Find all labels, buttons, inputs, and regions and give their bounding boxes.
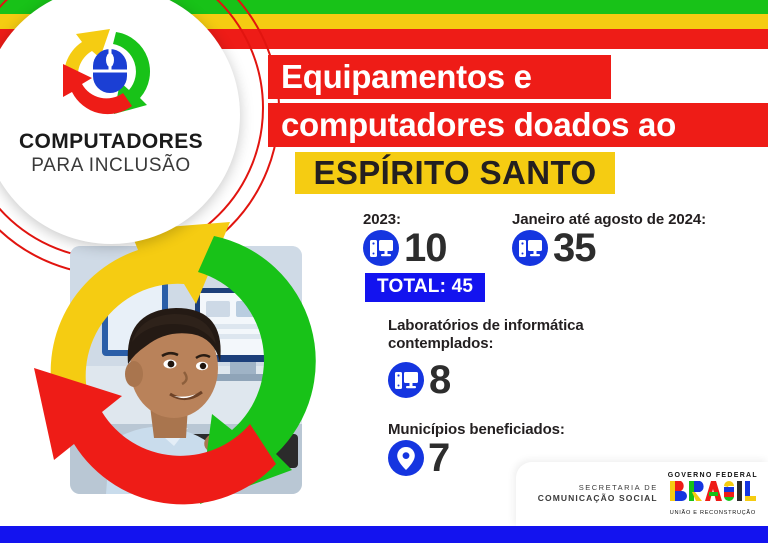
headline-line-1: Equipamentos e bbox=[268, 55, 611, 99]
stat-labs-value: 8 bbox=[429, 360, 450, 400]
stat-labs-label-line-1: Laboratórios de informática bbox=[388, 317, 584, 334]
photo-with-arrow-ring bbox=[18, 208, 348, 528]
headline-line-2-text: computadores doados ao bbox=[281, 106, 676, 144]
desktop-computer-icon bbox=[512, 230, 548, 266]
stat-2024-value: 35 bbox=[553, 228, 596, 268]
logo-title-line-2: PARA INCLUSÃO bbox=[31, 155, 191, 177]
stat-labs-label: Laboratórios de informática contemplados… bbox=[388, 317, 584, 354]
desktop-computer-icon bbox=[388, 362, 424, 398]
mouse-recycle-icon bbox=[36, 10, 186, 128]
headline-line-2: computadores doados ao bbox=[268, 103, 768, 147]
brasil-wordmark-icon bbox=[669, 479, 757, 503]
secom-logo: SECRETARIA DE COMUNICAÇÃO SOCIAL bbox=[538, 483, 658, 505]
secom-line-1: SECRETARIA DE bbox=[538, 483, 658, 493]
headline-highlight-text: ESPÍRITO SANTO bbox=[313, 154, 596, 192]
bottom-stripe-blue bbox=[0, 526, 768, 543]
stat-municipalities-label: Municípios beneficiados: bbox=[388, 421, 565, 439]
stat-2024-label: Janeiro até agosto de 2024: bbox=[512, 211, 706, 229]
gov-federal-logo: GOVERNO FEDERAL bbox=[668, 472, 758, 516]
footer-logos: SECRETARIA DE COMUNICAÇÃO SOCIAL GOVERNO… bbox=[516, 462, 768, 526]
gov-federal-label: GOVERNO FEDERAL bbox=[668, 472, 758, 479]
secom-line-2: COMUNICAÇÃO SOCIAL bbox=[538, 493, 658, 504]
headline-highlight-state: ESPÍRITO SANTO bbox=[295, 152, 615, 194]
headline-line-1-text: Equipamentos e bbox=[281, 58, 532, 96]
map-pin-icon bbox=[388, 440, 424, 476]
stat-2023-label: 2023: bbox=[363, 211, 401, 229]
infographic-canvas: Equipamentos e computadores doados ao ES… bbox=[0, 0, 768, 543]
gov-federal-tagline: UNIÃO E RECONSTRUÇÃO bbox=[668, 510, 758, 516]
stat-labs-label-line-2: contemplados: bbox=[388, 335, 493, 352]
recycle-arrow-ring bbox=[18, 208, 348, 538]
stat-municipalities-value: 7 bbox=[428, 438, 449, 478]
desktop-computer-icon bbox=[363, 230, 399, 266]
total-badge: TOTAL: 45 bbox=[365, 273, 485, 302]
total-badge-text: TOTAL: 45 bbox=[377, 276, 473, 297]
stat-2023-value: 10 bbox=[404, 228, 447, 268]
logo-title-line-1: COMPUTADORES bbox=[19, 130, 203, 154]
